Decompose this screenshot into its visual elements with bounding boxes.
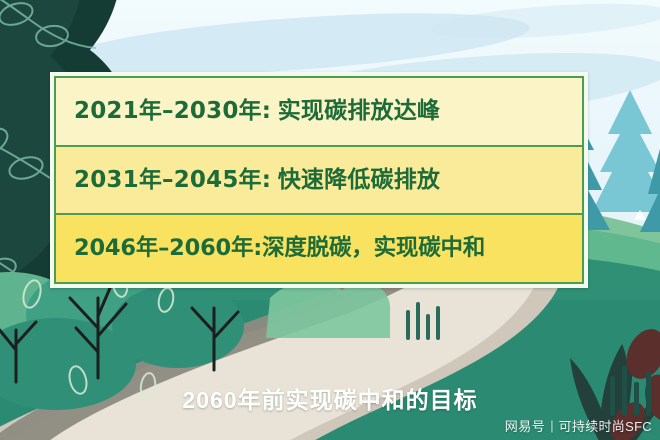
watermark: 网易号 | 可持续时尚SFC xyxy=(505,416,652,435)
watermark-separator: | xyxy=(550,418,553,433)
timeline-row-text: 2031年–2045年: 快速降低碳排放 xyxy=(74,168,440,192)
poster-caption: 2060年前实现碳中和的目标 xyxy=(0,381,660,415)
timeline-period: 2031年–2045年: xyxy=(74,167,271,193)
timeline-row-text: 2046年–2060年:深度脱碳，实现碳中和 xyxy=(74,237,485,260)
timeline-row: 2031年–2045年: 快速降低碳排放 xyxy=(56,147,582,216)
timeline-row: 2046年–2060年:深度脱碳，实现碳中和 xyxy=(56,215,582,282)
timeline-goal: 快速降低碳排放 xyxy=(271,166,440,192)
timeline-row-text: 2021年–2030年: 实现碳排放达峰 xyxy=(74,99,440,123)
poster-image: 2021年–2030年: 实现碳排放达峰 2031年–2045年: 快速降低碳排… xyxy=(0,0,660,440)
timeline-goal: 实现碳排放达峰 xyxy=(271,97,440,123)
timeline-row: 2021年–2030年: 实现碳排放达峰 xyxy=(56,78,582,147)
timeline-period: 2046年–2060年: xyxy=(74,235,262,261)
watermark-brand: 网易号 xyxy=(505,416,546,435)
grass-tufts-secondary xyxy=(400,300,460,340)
carbon-timeline-card: 2021年–2030年: 实现碳排放达峰 2031年–2045年: 快速降低碳排… xyxy=(50,72,588,288)
watermark-account: 可持续时尚SFC xyxy=(559,416,652,435)
timeline-goal: 深度脱碳，实现碳中和 xyxy=(262,235,485,260)
timeline-rows-container: 2021年–2030年: 实现碳排放达峰 2031年–2045年: 快速降低碳排… xyxy=(54,76,584,284)
timeline-period: 2021年–2030年: xyxy=(74,98,271,124)
